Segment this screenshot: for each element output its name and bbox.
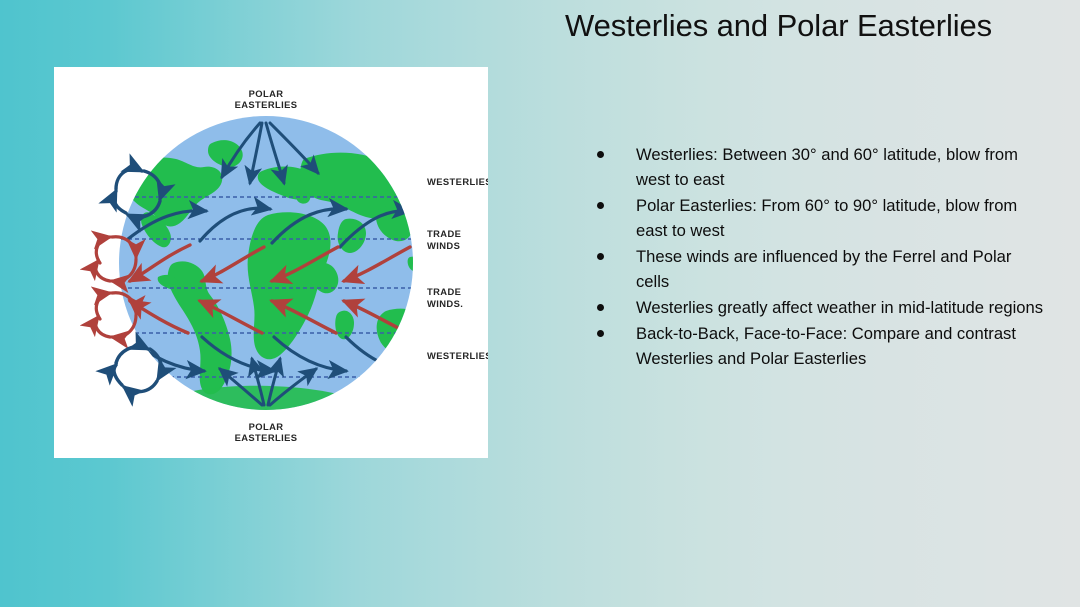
label-polar-easterlies-top-line1: POLAR: [249, 88, 284, 99]
label-trade-winds-north-line1: TRADE: [427, 228, 461, 239]
list-item: Polar Easterlies: From 60° to 90° latitu…: [589, 193, 1049, 244]
bullet-dot-icon: [597, 304, 604, 311]
list-item-text: Polar Easterlies: From 60° to 90° latitu…: [636, 196, 1017, 240]
bullet-dot-icon: [597, 202, 604, 209]
label-polar-easterlies-bottom-line1: POLAR: [249, 421, 284, 432]
list-item-text: Westerlies: Between 30° and 60° latitude…: [636, 145, 1018, 189]
title-placeholder[interactable]: Westerlies and Polar Easterlies: [565, 6, 1035, 45]
bullet-list: Westerlies: Between 30° and 60° latitude…: [589, 142, 1049, 372]
list-item: Westerlies greatly affect weather in mid…: [589, 295, 1049, 320]
list-item-text: These winds are influenced by the Ferrel…: [636, 247, 1011, 291]
list-item-text: Westerlies greatly affect weather in mid…: [636, 298, 1043, 317]
list-item-text: Back-to-Back, Face-to-Face: Compare and …: [636, 324, 1016, 368]
label-westerlies-bottom: WESTERLIES: [427, 350, 488, 361]
global-wind-belts-diagram: POLAR EASTERLIES WESTERLIES TRADE WINDS …: [54, 67, 488, 458]
label-westerlies-top: WESTERLIES: [427, 176, 488, 187]
body-placeholder[interactable]: Westerlies: Between 30° and 60° latitude…: [589, 142, 1049, 372]
presentation-slide: POLAR EASTERLIES WESTERLIES TRADE WINDS …: [0, 0, 1080, 607]
label-trade-winds-south-line1: TRADE: [427, 286, 461, 297]
list-item: Back-to-Back, Face-to-Face: Compare and …: [589, 321, 1049, 372]
label-polar-easterlies-bottom-line2: EASTERLIES: [235, 432, 298, 443]
label-trade-winds-south-line2: WINDS.: [427, 298, 463, 309]
bullet-dot-icon: [597, 253, 604, 260]
bullet-dot-icon: [597, 151, 604, 158]
list-item: Westerlies: Between 30° and 60° latitude…: [589, 142, 1049, 193]
list-item: These winds are influenced by the Ferrel…: [589, 244, 1049, 295]
label-trade-winds-north-line2: WINDS: [427, 240, 460, 251]
figure-image-panel[interactable]: POLAR EASTERLIES WESTERLIES TRADE WINDS …: [54, 67, 488, 458]
page-title: Westerlies and Polar Easterlies: [565, 6, 1035, 45]
label-polar-easterlies-top-line2: EASTERLIES: [235, 99, 298, 110]
bullet-dot-icon: [597, 330, 604, 337]
